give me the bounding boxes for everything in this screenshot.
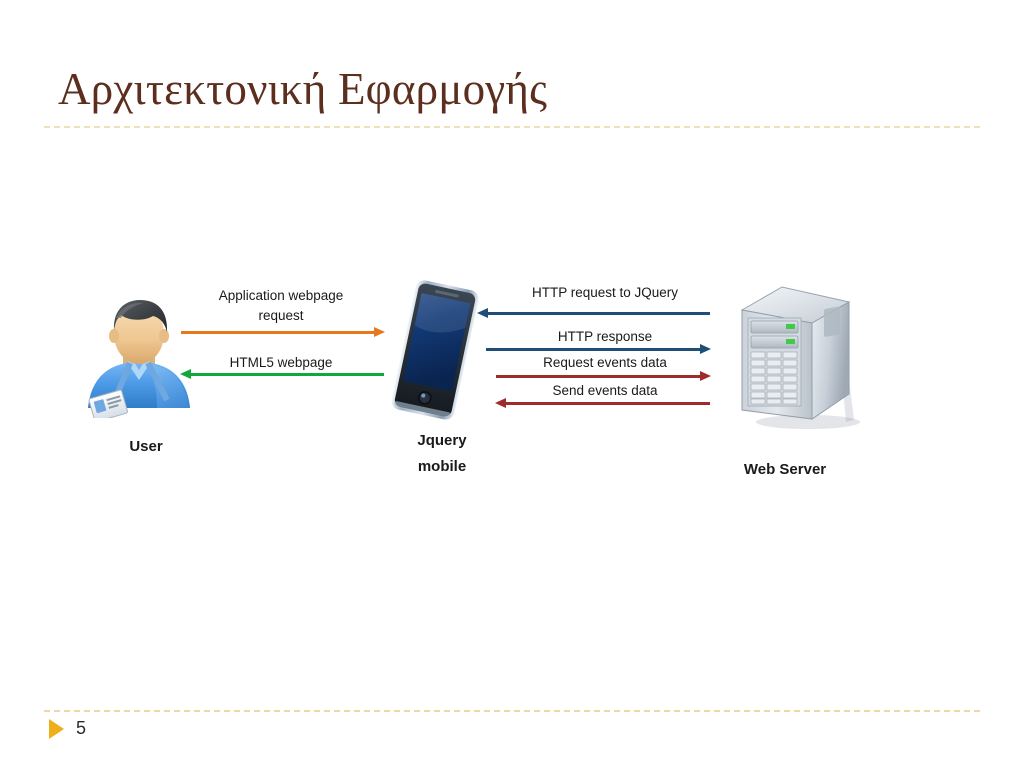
arrow-html5-webpage [181,369,384,379]
arrow-label-http-response: HTTP response [500,329,710,344]
node-label-mobile: Jquery mobile [394,428,490,480]
arrow-shaft [496,375,701,378]
server-tower-icon [728,282,868,437]
footer-divider [44,710,980,712]
triangle-bullet-icon [49,719,64,739]
arrow-label-http-request-to-jquery: HTTP request to JQuery [500,285,710,300]
node-label-server: Web Server [720,461,850,478]
arrow-shaft [505,402,710,405]
arrow-head [700,371,711,381]
arrow-http-request-to-jquery [478,308,710,318]
arrow-label-app-webpage-request: Application webpage request [188,286,374,326]
arrow-head [495,398,506,408]
user-person-icon [83,296,195,423]
arrow-shaft [181,331,375,334]
arrow-send-events-data [496,398,710,408]
node-label-mobile-line1: Jquery [394,428,490,454]
smartphone-icon [383,280,488,425]
arrow-head [477,308,488,318]
arrow-head [180,369,191,379]
arrow-request-events-data [496,371,710,381]
arrow-label-line1: Application webpage [188,286,374,306]
arrow-head [700,344,711,354]
arrow-app-webpage-request [181,327,384,337]
arrow-head [374,327,385,337]
arrow-http-response [486,344,710,354]
arrow-shaft [487,312,710,315]
arrow-label-send-events-data: Send events data [500,383,710,398]
arrow-label-html5-webpage: HTML5 webpage [188,355,374,370]
node-label-user: User [98,438,194,455]
arrow-label-request-events-data: Request events data [500,355,710,370]
arrow-shaft [486,348,701,351]
node-label-mobile-line2: mobile [394,454,490,480]
slide-number: 5 [76,718,86,739]
presentation-slide: Αρχιτεκτονική Εφαρμογής [0,0,1024,768]
arrow-shaft [190,373,384,376]
architecture-diagram: User [0,0,1024,768]
arrow-label-line2: request [188,306,374,326]
